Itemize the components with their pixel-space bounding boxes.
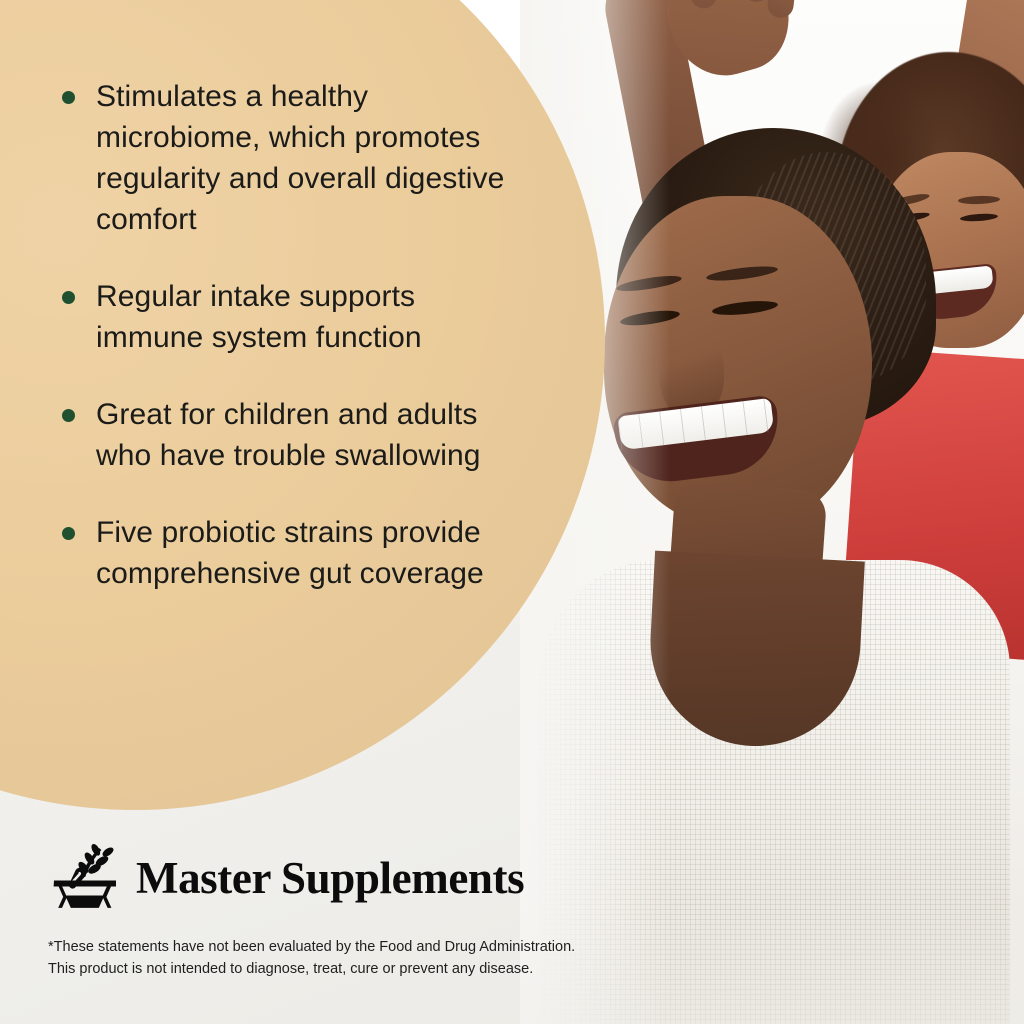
list-item: Great for children and adults who have t…	[62, 394, 562, 476]
benefits-list: Stimulates a healthy microbiome, which p…	[62, 76, 562, 630]
brand-name: Master Supplements	[136, 852, 524, 904]
bullet-dot-icon	[62, 409, 75, 422]
list-item: Regular intake supports immune system fu…	[62, 276, 562, 358]
fda-disclaimer: *These statements have not been evaluate…	[48, 936, 648, 980]
benefit-text: Regular intake supports immune system fu…	[96, 276, 526, 358]
bullet-dot-icon	[62, 91, 75, 104]
bullet-dot-icon	[62, 291, 75, 304]
benefit-text: Stimulates a healthy microbiome, which p…	[96, 76, 526, 240]
disclaimer-line-2: This product is not intended to diagnose…	[48, 958, 648, 980]
list-item: Five probiotic strains provide comprehen…	[62, 512, 562, 594]
benefit-text: Five probiotic strains provide comprehen…	[96, 512, 526, 594]
product-benefits-graphic: Stimulates a healthy microbiome, which p…	[0, 0, 1024, 1024]
bullet-dot-icon	[62, 527, 75, 540]
disclaimer-line-1: *These statements have not been evaluate…	[48, 936, 648, 958]
brand-logo: Master Supplements	[48, 836, 524, 919]
benefit-text: Great for children and adults who have t…	[96, 394, 526, 476]
list-item: Stimulates a healthy microbiome, which p…	[62, 76, 562, 240]
mortar-and-pestle-icon	[48, 836, 122, 919]
lifestyle-photo	[520, 0, 1024, 1024]
